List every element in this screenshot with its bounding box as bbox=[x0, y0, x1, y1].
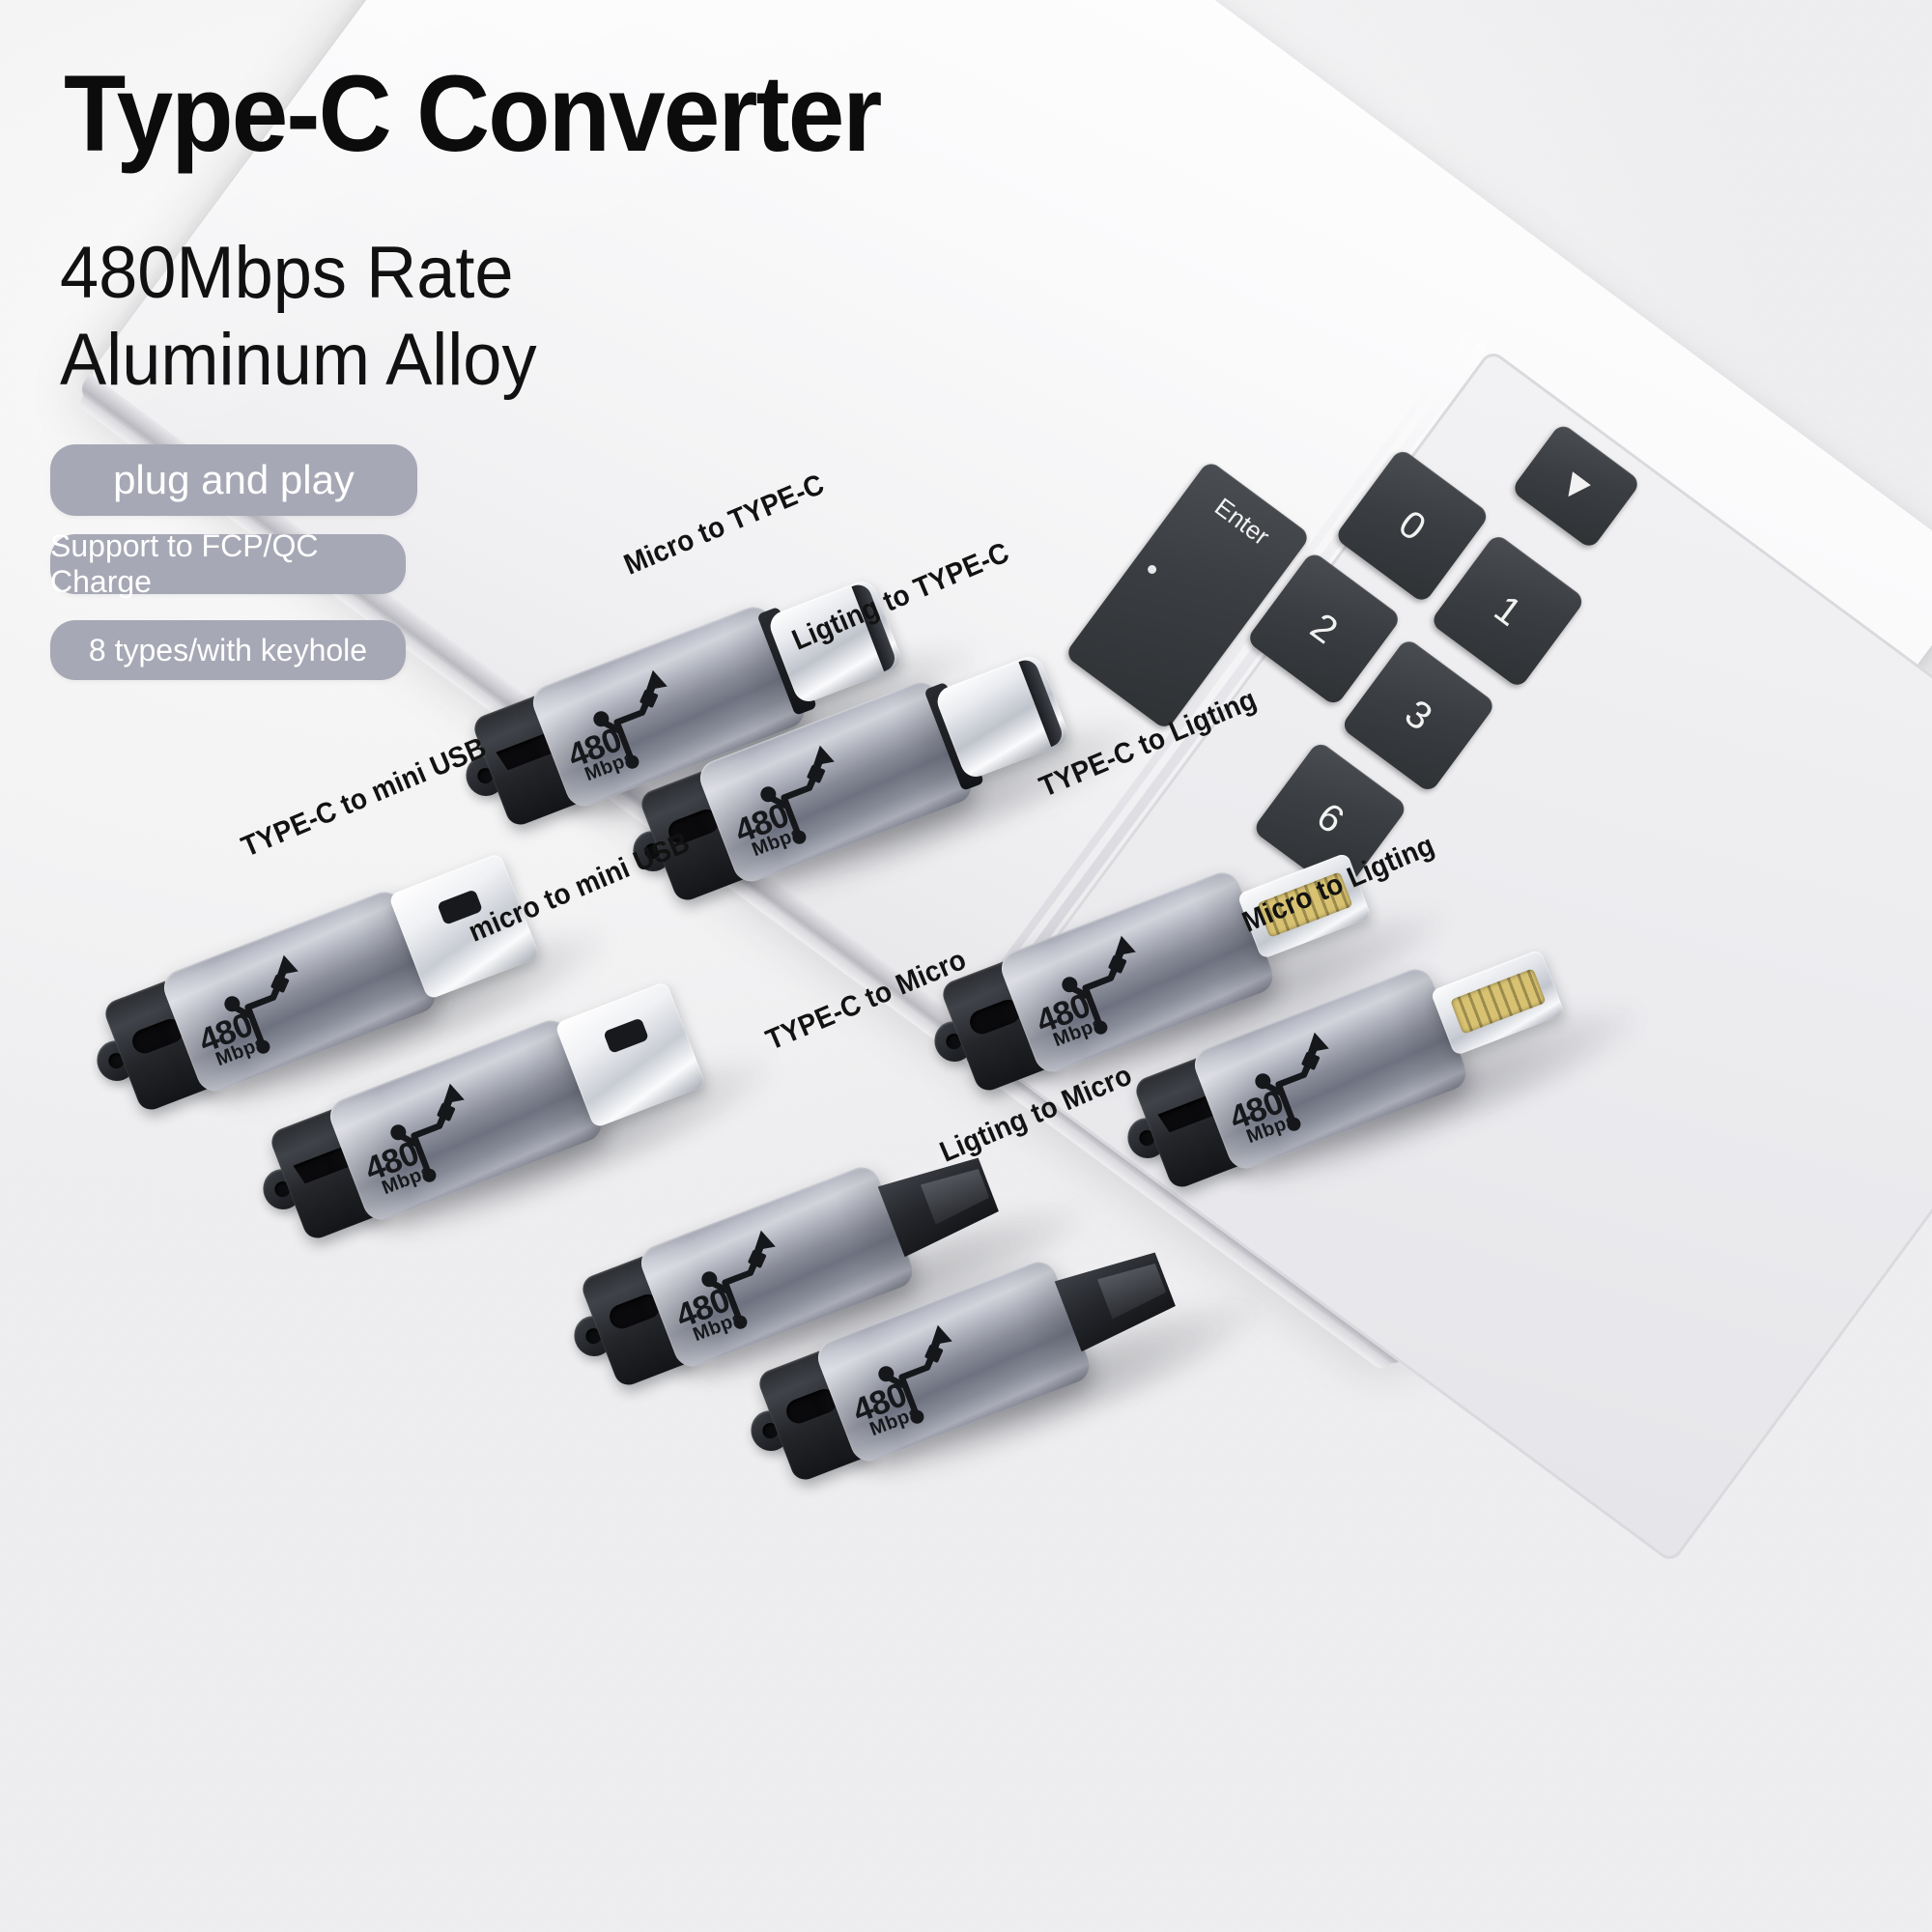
subtitle-line-1: 480Mbps Rate bbox=[60, 232, 514, 314]
key-2-label: 2 bbox=[1302, 605, 1346, 652]
feature-badge-label: Support to FCP/QC Charge bbox=[50, 528, 406, 600]
product-marketing-image: ▼ 0 1 2 3 6 Enter Type-C Converter 4 bbox=[0, 0, 1932, 1932]
feature-badge-8-types-keyhole[interactable]: 8 types/with keyhole bbox=[50, 620, 406, 680]
key-0-label: 0 bbox=[1391, 502, 1435, 550]
page-title: Type-C Converter bbox=[64, 60, 880, 168]
feature-badge-fcp-qc-charge[interactable]: Support to FCP/QC Charge bbox=[50, 534, 406, 594]
page-subtitle: 480Mbps RateAluminum Alloy bbox=[60, 230, 537, 403]
key-3-label: 3 bbox=[1397, 692, 1440, 739]
feature-badge-label: 8 types/with keyhole bbox=[89, 633, 367, 668]
key-1-label: 1 bbox=[1486, 587, 1529, 635]
key-enter-indicator-dot bbox=[1146, 563, 1158, 576]
key-enter-label: Enter bbox=[1209, 492, 1275, 552]
subtitle-line-2: Aluminum Alloy bbox=[60, 319, 537, 401]
feature-badge-label: plug and play bbox=[113, 457, 355, 503]
key-arrow-down-label: ▼ bbox=[1548, 457, 1605, 515]
feature-badge-plug-and-play[interactable]: plug and play bbox=[50, 444, 417, 516]
